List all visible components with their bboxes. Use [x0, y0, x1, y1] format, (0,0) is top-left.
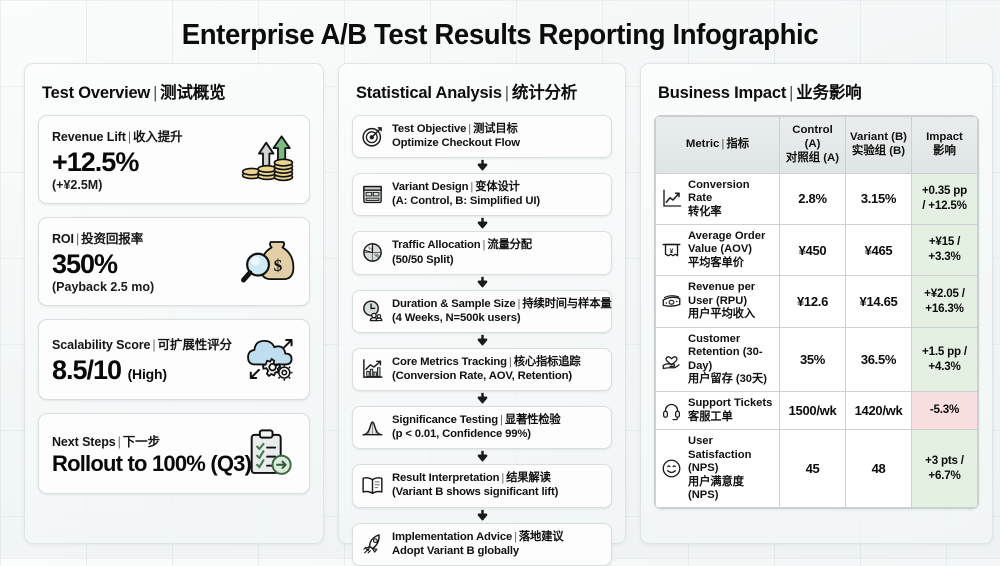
kpi-value-number: 8.5/10: [52, 355, 121, 385]
columns-container: Test Overview|测试概览 Revenue Lift|收入提升 +12…: [0, 52, 1000, 544]
flow-step-traffic-allocation[interactable]: %% Traffic Allocation|流量分配 (50/50 Split): [352, 231, 612, 274]
flow-step-title-en: Core Metrics Tracking: [392, 356, 507, 368]
flow-step-text: Significance Testing|显著性检验 (p < 0.01, Co…: [392, 413, 561, 441]
metric-name-cn: 用户满意度 (NPS): [688, 476, 775, 503]
impact-value: +¥15 / +3.3%: [912, 225, 978, 276]
metric-name-en: Average Order Value (AOV): [688, 230, 775, 257]
metric-cell: Revenue per User (RPU) 用户平均收入: [656, 276, 780, 327]
cloud-gears-icon: [239, 330, 297, 388]
flow-step-title-en: Result Interpretation: [392, 472, 499, 484]
panel-statistical-analysis: Statistical Analysis|统计分析 Test Objective…: [338, 63, 626, 544]
control-value: 35%: [780, 327, 846, 392]
coins-growth-arrow-icon: [239, 130, 297, 188]
flow-step-title-cn: 落地建议: [519, 531, 564, 543]
panel-title-test-overview: Test Overview|测试概览: [42, 79, 310, 103]
svg-text:%: %: [368, 246, 373, 252]
business-impact-table: Metric|指标 Control (A) 对照组 (A) Variant (B…: [655, 116, 978, 508]
flow-step-implementation-advice[interactable]: Implementation Advice|落地建议 Adopt Variant…: [352, 523, 612, 566]
metric-row-inner: Support Tickets 客服工单: [661, 397, 775, 424]
column-header-impact-en: Impact: [915, 131, 974, 145]
control-value: 45: [780, 430, 846, 508]
metric-cell: Customer Retention (30-Day) 用户留存 (30天): [656, 327, 780, 392]
impact-line-2: / +12.5%: [916, 199, 973, 214]
flow-step-test-objective[interactable]: Test Objective|测试目标 Optimize Checkout Fl…: [352, 115, 612, 158]
flow-step-text: Implementation Advice|落地建议 Adopt Variant…: [392, 530, 564, 558]
flow-step-title: Result Interpretation|结果解读: [392, 471, 558, 485]
impact-value: +0.35 pp / +12.5%: [912, 173, 978, 224]
flow-step-title-cn: 持续时间与样本量: [522, 298, 611, 310]
variant-value: 1420/wk: [846, 392, 912, 430]
metric-row-inner: Revenue per User (RPU) 用户平均收入: [661, 281, 775, 321]
kpi-label: ROI|投资回报率: [52, 228, 235, 247]
kpi-label-cn: 下一步: [123, 435, 160, 449]
flow-step-detail: (p < 0.01, Confidence 99%): [392, 427, 561, 441]
metric-name-en: Support Tickets: [688, 397, 772, 410]
flow-step-title-cn: 测试目标: [473, 123, 518, 135]
impact-line-1: +¥15 /: [916, 235, 973, 250]
flow-step-title: Core Metrics Tracking|核心指标追踪: [392, 355, 581, 369]
flow-step-title: Significance Testing|显著性检验: [392, 413, 561, 427]
flow-arrow-icon: [352, 216, 612, 231]
kpi-value: +12.5%: [52, 147, 235, 177]
flow-arrow-icon: [352, 333, 612, 348]
metric-names: Support Tickets 客服工单: [688, 397, 772, 424]
impact-line-1: +3 pts /: [916, 454, 973, 469]
kpi-card-scalability-score[interactable]: Scalability Score|可扩展性评分 8.5/10 (High): [38, 319, 310, 400]
impact-line-1: +0.35 pp: [916, 184, 973, 199]
banknote-icon: [661, 291, 682, 312]
flow-arrow-icon: [352, 449, 612, 464]
pie-chart-icon: %%: [361, 241, 384, 264]
flow-step-title: Implementation Advice|落地建议: [392, 530, 564, 544]
kpi-subvalue: (Payback 2.5 mo): [52, 280, 235, 294]
rocket-icon: [361, 532, 384, 555]
flow-step-variant-design[interactable]: Variant Design|变体设计 (A: Control, B: Simp…: [352, 173, 612, 216]
bar-chart-trend-icon: [361, 357, 384, 380]
flow-step-title: Variant Design|变体设计: [392, 180, 540, 194]
table-row[interactable]: Support Tickets 客服工单 1500/wk 1420/wk -5.…: [656, 392, 978, 430]
kpi-label-en: Scalability Score: [52, 338, 150, 352]
kpi-label: Next Steps|下一步: [52, 431, 235, 450]
metric-row-inner: ¥ Average Order Value (AOV) 平均客单价: [661, 230, 775, 270]
kpi-subvalue: (+¥2.5M): [52, 178, 235, 192]
metric-name-en: Customer Retention (30-Day): [688, 333, 775, 373]
column-header-variant: Variant (B) 实验组 (B): [846, 117, 912, 174]
impact-line-2: +3.3%: [916, 250, 973, 265]
headset-icon: [661, 400, 682, 421]
flow-step-title-en: Significance Testing: [392, 414, 498, 426]
svg-text:¥: ¥: [670, 247, 674, 254]
kpi-label-cn: 收入提升: [133, 130, 183, 144]
flow-step-text: Core Metrics Tracking|核心指标追踪 (Conversion…: [392, 355, 581, 383]
control-value: 2.8%: [780, 173, 846, 224]
flow-step-detail: Adopt Variant B globally: [392, 544, 564, 558]
kpi-value: 350%: [52, 249, 235, 279]
flow-step-detail: (4 Weeks, N=500k users): [392, 311, 602, 325]
metric-name-cn: 用户留存 (30天): [688, 373, 775, 386]
flow-arrow-icon: [352, 508, 612, 523]
money-bag-magnifier-icon: $: [239, 232, 297, 290]
flow-arrow-icon: [352, 391, 612, 406]
flow-step-title-en: Duration & Sample Size: [392, 298, 516, 310]
page-title: Enterprise A/B Test Results Reporting In…: [25, 0, 975, 52]
table-row[interactable]: Revenue per User (RPU) 用户平均收入 ¥12.6 ¥14.…: [656, 276, 978, 327]
column-header-variant-cn: 实验组 (B): [849, 145, 908, 159]
flow-step-detail: (Variant B shows significant lift): [392, 485, 558, 499]
flow-step-title-cn: 显著性检验: [505, 414, 561, 426]
panel-title-business-impact: Business Impact|业务影响: [658, 79, 979, 103]
metric-names: User Satisfaction (NPS) 用户满意度 (NPS): [688, 435, 775, 502]
control-value: ¥450: [780, 225, 846, 276]
panel-title-en: Statistical Analysis: [356, 84, 502, 102]
column-header-metric-cn: 指标: [726, 138, 749, 150]
flow-step-result-interpretation[interactable]: Result Interpretation|结果解读 (Variant B sh…: [352, 464, 612, 507]
impact-line-1: +¥2.05 /: [916, 287, 973, 302]
variant-value: 3.15%: [846, 173, 912, 224]
impact-line-1: +1.5 pp /: [916, 345, 973, 360]
panel-business-impact: Business Impact|业务影响 Metric|指标 Control (…: [640, 63, 993, 544]
flow-step-title-en: Test Objective: [392, 123, 466, 135]
column-header-metric: Metric|指标: [656, 117, 780, 174]
metric-names: Customer Retention (30-Day) 用户留存 (30天): [688, 333, 775, 387]
metric-name-cn: 转化率: [688, 206, 775, 219]
kpi-text-block: Scalability Score|可扩展性评分 8.5/10 (High): [52, 334, 235, 385]
kpi-label-en: Next Steps: [52, 435, 116, 449]
column-header-metric-en: Metric: [686, 138, 720, 150]
line-chart-icon: [661, 188, 682, 209]
metric-names: Average Order Value (AOV) 平均客单价: [688, 230, 775, 270]
flow-step-title: Duration & Sample Size|持续时间与样本量: [392, 297, 602, 311]
metric-cell: ¥ Average Order Value (AOV) 平均客单价: [656, 225, 780, 276]
flow-step-title-cn: 变体设计: [475, 181, 520, 193]
panel-title-en: Test Overview: [42, 84, 150, 102]
flow-step-title: Test Objective|测试目标: [392, 122, 520, 136]
column-header-control: Control (A) 对照组 (A): [780, 117, 846, 174]
column-header-variant-en: Variant (B): [849, 131, 908, 145]
metric-name-en: User Satisfaction (NPS): [688, 435, 775, 475]
panel-title-cn: 业务影响: [796, 84, 861, 102]
wireframe-icon: [361, 183, 384, 206]
table-row[interactable]: Customer Retention (30-Day) 用户留存 (30天) 3…: [656, 327, 978, 392]
panel-title-en: Business Impact: [658, 84, 786, 102]
panel-title-cn: 测试概览: [160, 84, 225, 102]
kpi-label: Scalability Score|可扩展性评分: [52, 334, 235, 353]
heart-hand-icon: [661, 349, 682, 370]
flow-step-title-en: Implementation Advice: [392, 531, 512, 543]
metric-cell: Support Tickets 客服工单: [656, 392, 780, 430]
variant-value: 48: [846, 430, 912, 508]
control-value: 1500/wk: [780, 392, 846, 430]
svg-text:%: %: [375, 254, 380, 260]
impact-line-2: +16.3%: [916, 302, 973, 317]
receipt-yen-icon: ¥: [661, 240, 682, 261]
flow-step-detail: (50/50 Split): [392, 253, 532, 267]
kpi-card-list: Revenue Lift|收入提升 +12.5% (+¥2.5M): [38, 115, 310, 494]
metric-name-cn: 平均客单价: [688, 257, 775, 270]
svg-text:$: $: [274, 256, 283, 275]
flow-step-title-en: Variant Design: [392, 181, 468, 193]
flow-step-detail: (A: Control, B: Simplified UI): [392, 194, 540, 208]
metric-cell: Conversion Rate 转化率: [656, 173, 780, 224]
metric-name-en: Conversion Rate: [688, 179, 775, 206]
column-header-impact-cn: 影响: [915, 145, 974, 159]
metric-row-inner: Conversion Rate 转化率: [661, 179, 775, 219]
variant-value: 36.5%: [846, 327, 912, 392]
table-row[interactable]: ¥ Average Order Value (AOV) 平均客单价 ¥450 ¥…: [656, 225, 978, 276]
metric-cell: User Satisfaction (NPS) 用户满意度 (NPS): [656, 430, 780, 508]
impact-value: +1.5 pp / +4.3%: [912, 327, 978, 392]
panel-title-cn: 统计分析: [512, 84, 577, 102]
impact-line-2: +6.7%: [916, 469, 973, 484]
table-row[interactable]: User Satisfaction (NPS) 用户满意度 (NPS) 45 4…: [656, 430, 978, 508]
kpi-value: 8.5/10 (High): [52, 355, 235, 385]
flow-step-title-cn: 结果解读: [506, 472, 551, 484]
impact-line-2: +4.3%: [916, 360, 973, 375]
flow-step-text: Duration & Sample Size|持续时间与样本量 (4 Weeks…: [392, 297, 602, 325]
impact-value: -5.3%: [912, 392, 978, 430]
flow-step-detail: (Conversion Rate, AOV, Retention): [392, 369, 581, 383]
kpi-label: Revenue Lift|收入提升: [52, 126, 235, 145]
flow-step-detail: Optimize Checkout Flow: [392, 136, 520, 150]
table-head: Metric|指标 Control (A) 对照组 (A) Variant (B…: [656, 117, 978, 174]
flow-step-text: Variant Design|变体设计 (A: Control, B: Simp…: [392, 180, 540, 208]
panel-title-statistical-analysis: Statistical Analysis|统计分析: [356, 79, 612, 103]
kpi-value: Rollout to 100% (Q3): [52, 452, 235, 477]
open-book-icon: [361, 474, 384, 497]
metric-names: Conversion Rate 转化率: [688, 179, 775, 219]
flow-step-text: Result Interpretation|结果解读 (Variant B sh…: [392, 471, 558, 499]
metric-row-inner: Customer Retention (30-Day) 用户留存 (30天): [661, 333, 775, 387]
flow-arrow-icon: [352, 275, 612, 290]
impact-value: +¥2.05 / +16.3%: [912, 276, 978, 327]
impact-value: +3 pts / +6.7%: [912, 430, 978, 508]
table-header-row: Metric|指标 Control (A) 对照组 (A) Variant (B…: [656, 117, 978, 174]
business-impact-table-wrapper: Metric|指标 Control (A) 对照组 (A) Variant (B…: [654, 115, 979, 509]
flow-step-significance-testing[interactable]: Significance Testing|显著性检验 (p < 0.01, Co…: [352, 406, 612, 449]
flow-step-duration-sample-size[interactable]: Duration & Sample Size|持续时间与样本量 (4 Weeks…: [352, 290, 612, 333]
bell-curve-icon: [361, 416, 384, 439]
target-icon: [361, 125, 384, 148]
variant-value: ¥14.65: [846, 276, 912, 327]
table-body: Conversion Rate 转化率 2.8% 3.15% +0.35 pp …: [656, 173, 978, 508]
impact-line-1: -5.3%: [916, 403, 973, 418]
metric-names: Revenue per User (RPU) 用户平均收入: [688, 281, 775, 321]
metric-name-en: Revenue per User (RPU): [688, 281, 775, 308]
kpi-text-block: Revenue Lift|收入提升 +12.5% (+¥2.5M): [52, 126, 235, 192]
kpi-label-cn: 可扩展性评分: [158, 338, 232, 352]
table-row[interactable]: Conversion Rate 转化率 2.8% 3.15% +0.35 pp …: [656, 173, 978, 224]
kpi-text-block: Next Steps|下一步 Rollout to 100% (Q3): [52, 431, 235, 477]
analysis-flow-list: Test Objective|测试目标 Optimize Checkout Fl…: [352, 115, 612, 566]
flow-step-text: Test Objective|测试目标 Optimize Checkout Fl…: [392, 122, 520, 150]
column-header-control-cn: 对照组 (A): [783, 152, 842, 166]
flow-step-text: Traffic Allocation|流量分配 (50/50 Split): [392, 238, 532, 266]
kpi-label-cn: 投资回报率: [81, 232, 143, 246]
flow-arrow-icon: [352, 158, 612, 173]
clock-users-icon: [361, 299, 384, 322]
metric-row-inner: User Satisfaction (NPS) 用户满意度 (NPS): [661, 435, 775, 502]
kpi-text-block: ROI|投资回报率 350% (Payback 2.5 mo): [52, 228, 235, 294]
variant-value: ¥465: [846, 225, 912, 276]
flow-step-title: Traffic Allocation|流量分配: [392, 238, 532, 252]
kpi-card-roi[interactable]: ROI|投资回报率 350% (Payback 2.5 mo) $: [38, 217, 310, 306]
column-header-control-en: Control (A): [783, 124, 842, 152]
flow-step-title-cn: 流量分配: [487, 239, 532, 251]
smiley-icon: [661, 458, 682, 479]
kpi-label-en: ROI: [52, 232, 74, 246]
kpi-label-en: Revenue Lift: [52, 130, 126, 144]
kpi-value-suffix: (High): [128, 366, 167, 382]
infographic-page: Enterprise A/B Test Results Reporting In…: [0, 0, 1000, 558]
flow-step-title-cn: 核心指标追踪: [514, 356, 581, 368]
column-header-impact: Impact 影响: [912, 117, 978, 174]
metric-name-cn: 用户平均收入: [688, 308, 775, 321]
kpi-card-next-steps[interactable]: Next Steps|下一步 Rollout to 100% (Q3): [38, 413, 310, 494]
flow-step-title-en: Traffic Allocation: [392, 239, 481, 251]
metric-name-cn: 客服工单: [688, 411, 772, 424]
kpi-card-revenue-lift[interactable]: Revenue Lift|收入提升 +12.5% (+¥2.5M): [38, 115, 310, 204]
panel-test-overview: Test Overview|测试概览 Revenue Lift|收入提升 +12…: [24, 63, 324, 544]
clipboard-arrow-icon: [239, 424, 297, 482]
flow-step-core-metrics-tracking[interactable]: Core Metrics Tracking|核心指标追踪 (Conversion…: [352, 348, 612, 391]
control-value: ¥12.6: [780, 276, 846, 327]
